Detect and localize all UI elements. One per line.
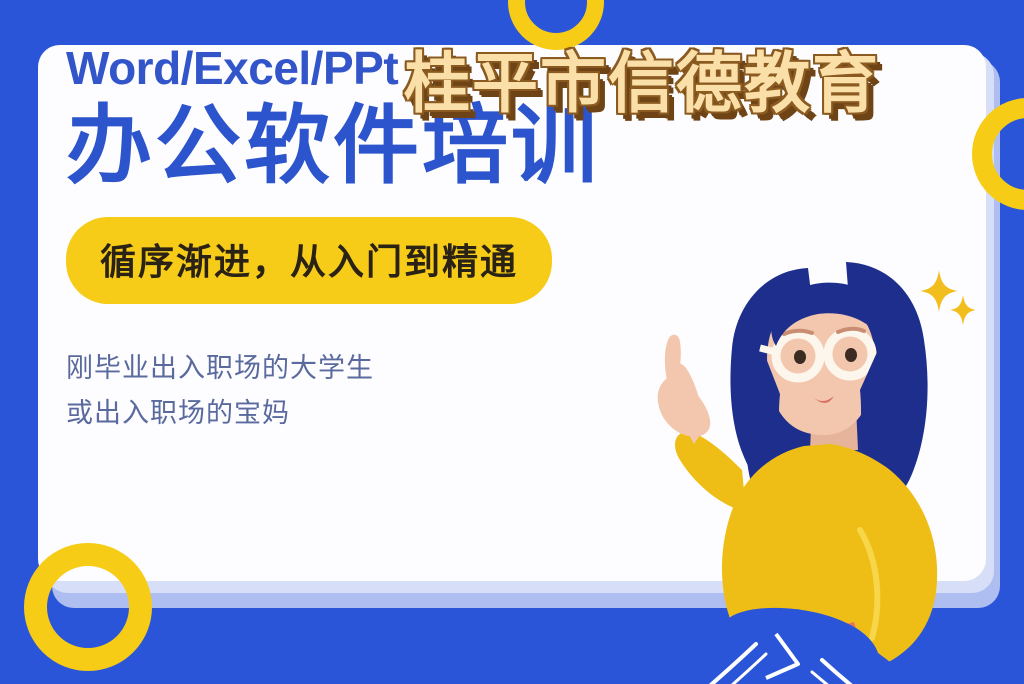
- poster-root: Word/Excel/PPt 办公软件培训 循序渐进，从入门到精通 刚毕业出入职…: [0, 0, 1024, 684]
- audience-line-1: 刚毕业出入职场的大学生: [66, 346, 706, 391]
- sparkle-small: [950, 295, 976, 330]
- tagline-badge: 循序渐进，从入门到精通: [66, 217, 552, 304]
- audience-list: 刚毕业出入职场的大学生 或出入职场的宝妈: [66, 346, 706, 435]
- ring-bottom-left-decoration: [24, 543, 152, 671]
- audience-line-2: 或出入职场的宝妈: [66, 391, 706, 436]
- watermark-text: 桂平市信德教育: [404, 30, 880, 126]
